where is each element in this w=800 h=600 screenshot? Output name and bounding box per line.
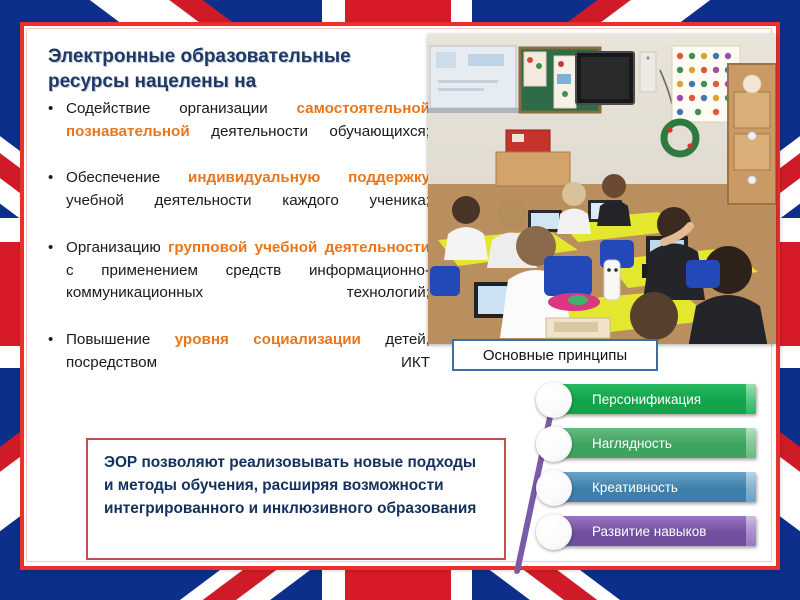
principle-row-3[interactable]: Развитие навыков [522, 516, 772, 550]
principle-label-1: Наглядность [592, 436, 672, 451]
principle-node-1[interactable] [536, 426, 572, 462]
classroom-photo [428, 34, 776, 344]
principle-label-3: Развитие навыков [592, 524, 706, 539]
bullet-list: •Содействие организации самостоятельной … [38, 98, 430, 398]
principle-row-2[interactable]: Креативность [522, 472, 772, 506]
principle-bar-1[interactable]: Наглядность [558, 428, 756, 458]
statement-box: ЭОР позволяют реализовывать новые подход… [86, 438, 506, 560]
principle-bar-3[interactable]: Развитие навыков [558, 516, 756, 546]
body-text: с применением средств информационно-комм… [66, 262, 430, 302]
bullet-marker: • [48, 237, 53, 260]
principle-node-3[interactable] [536, 514, 572, 550]
principle-node-2[interactable] [536, 470, 572, 506]
principles-diagram: Персонификация Наглядность Креативность [522, 384, 772, 574]
bar-cap-3 [746, 516, 756, 546]
principles-label-box: Основные принципы [452, 339, 658, 371]
principle-row-1[interactable]: Наглядность [522, 428, 772, 462]
principle-row-0[interactable]: Персонификация [522, 384, 772, 418]
bar-cap-1 [746, 428, 756, 458]
body-text: деятельности обучающихся; [211, 123, 430, 140]
body-text: Обеспечение [66, 169, 188, 186]
highlighted-text: групповой учебной деятельности [168, 239, 430, 256]
list-item: •Обеспечение индивидуальную поддержку уч… [38, 167, 430, 235]
list-item: •Организацию групповой учебной деятельно… [38, 237, 430, 328]
slide-canvas: Электронные образовательные ресурсы наце… [0, 0, 800, 600]
statement-text: ЭОР позволяют реализовывать новые подход… [104, 452, 488, 520]
slide-content: Электронные образовательные ресурсы наце… [24, 26, 776, 566]
principle-bar-0[interactable]: Персонификация [558, 384, 756, 414]
principles-label-text: Основные принципы [483, 347, 627, 364]
highlighted-text: индивидуальную поддержку [188, 169, 430, 186]
principle-label-0: Персонификация [592, 392, 701, 407]
bullet-marker: • [48, 329, 53, 352]
body-text: Организацию [66, 239, 168, 256]
bullet-marker: • [48, 98, 53, 121]
body-text: Содействие организации [66, 100, 297, 117]
bar-cap-0 [746, 384, 756, 414]
principle-label-2: Креативность [592, 480, 678, 495]
highlighted-text: уровня социализации [175, 331, 386, 348]
list-item: •Содействие организации самостоятельной … [38, 98, 430, 166]
principle-node-0[interactable] [536, 382, 572, 418]
list-item: •Повышение уровня социализации детей, по… [38, 329, 430, 397]
bullet-marker: • [48, 167, 53, 190]
page-title: Электронные образовательные ресурсы наце… [48, 44, 418, 94]
bar-cap-2 [746, 472, 756, 502]
principle-bar-2[interactable]: Креативность [558, 472, 756, 502]
body-text: учебной деятельности каждого ученика; [66, 192, 430, 209]
body-text: Повышение [66, 331, 175, 348]
